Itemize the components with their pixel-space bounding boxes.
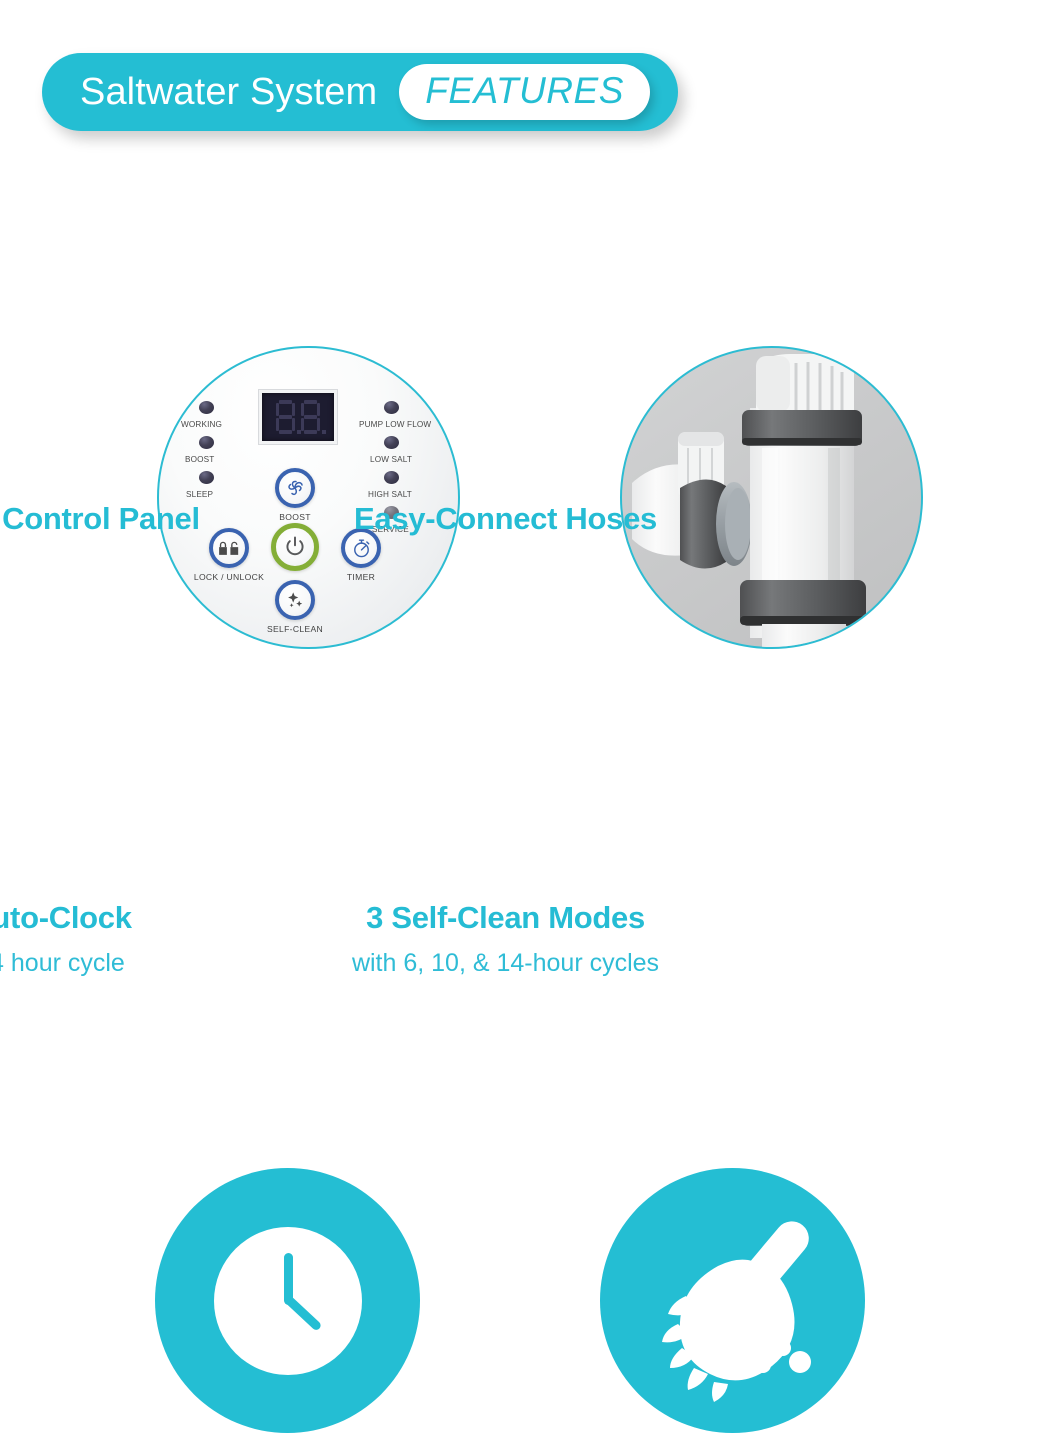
led-label-high-salt: HIGH SALT [368, 490, 412, 499]
clock-icon [155, 1168, 420, 1433]
led-low-salt [384, 436, 399, 449]
led-high-salt [384, 471, 399, 484]
led-working [199, 401, 214, 414]
seven-segment-display [259, 390, 337, 444]
display-digit-2 [300, 400, 322, 434]
header-banner: Saltwater System FEATURES [42, 53, 678, 131]
led-pump-low-flow [384, 401, 399, 414]
page-title: Saltwater System [80, 71, 377, 114]
feature-self-clean-modes: 3 Self-Clean Modes with 6, 10, & 14-hour… [525, 570, 1050, 1000]
clock-hand-minute [284, 1295, 322, 1332]
led-label-low-salt: LOW SALT [370, 455, 412, 464]
feature-digital-control-panel: WORKING BOOST SLEEP PUMP LOW FLOW LOW SA… [0, 160, 525, 560]
led-sleep [199, 471, 214, 484]
swirl-icon [283, 476, 307, 500]
feature-caption-easy-connect-hoses: Easy-Connect Hoses [243, 501, 768, 537]
broom-illustration [600, 1168, 865, 1433]
padlock-icon [217, 540, 241, 557]
led-boost [199, 436, 214, 449]
stopwatch-icon [350, 537, 373, 560]
led-label-sleep: SLEEP [186, 490, 213, 499]
power-icon [282, 534, 308, 560]
features-badge-label: FEATURES [425, 70, 624, 112]
features-badge: FEATURES [399, 64, 650, 120]
led-label-working: WORKING [181, 420, 222, 429]
feature-caption-self-clean-modes: 3 Self-Clean Modes [243, 900, 768, 936]
clock-face [214, 1227, 362, 1375]
led-label-boost: BOOST [185, 455, 214, 464]
feature-easy-connect-hoses: Easy-Connect Hoses [525, 160, 1050, 560]
display-digit-1 [275, 400, 297, 434]
feature-subcaption-self-clean-modes: with 6, 10, & 14-hour cycles [243, 949, 768, 978]
broom-icon [600, 1168, 865, 1433]
led-label-pump-low-flow: PUMP LOW FLOW [359, 420, 431, 429]
